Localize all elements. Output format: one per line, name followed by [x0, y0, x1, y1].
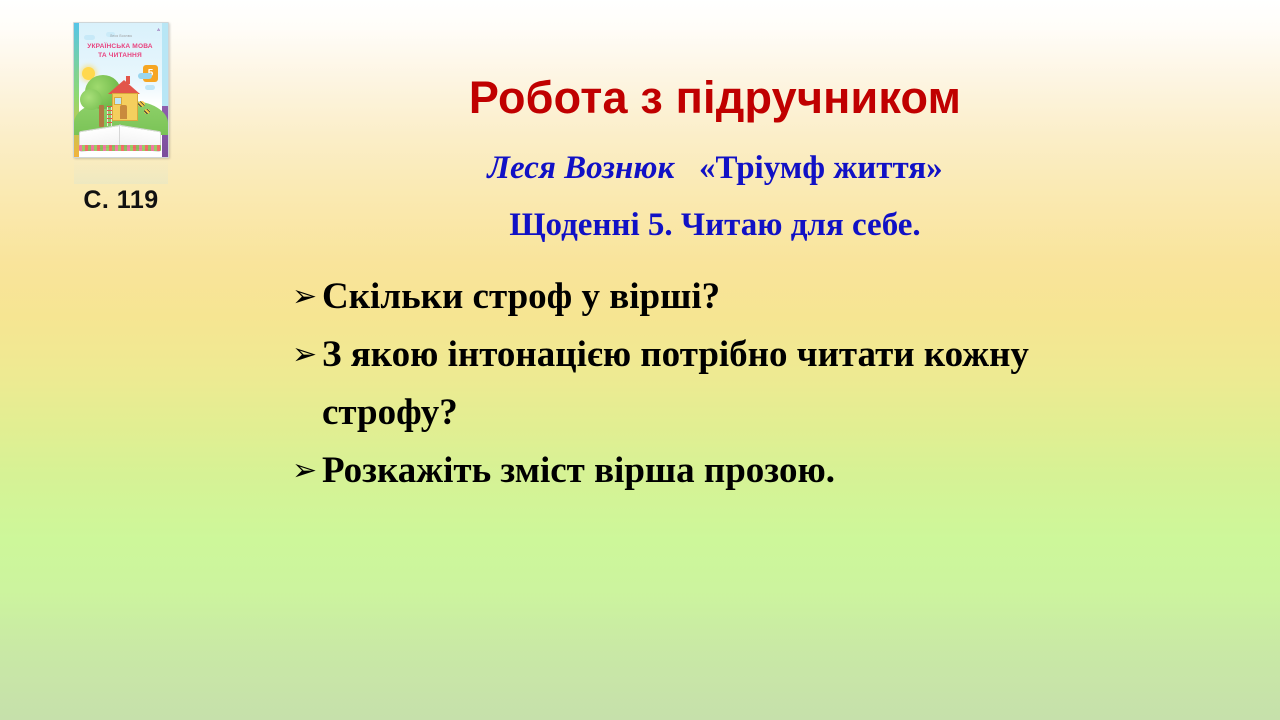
textbook-block: A Леся Вознюк УКРАЇНСЬКА МОВА ТА ЧИТАННЯ… [46, 22, 196, 215]
tree-trunk-shape [99, 105, 104, 127]
question-text: З якою інтонацією потрібно читати кожну … [322, 334, 1029, 433]
arrow-bullet-icon: ➢ [292, 268, 320, 326]
house-roof-shape [108, 80, 140, 94]
cover-publisher-mark: A [157, 27, 160, 32]
subtitle-space [682, 150, 690, 186]
question-text: Скільки строф у вірші? [322, 276, 720, 317]
list-item: ➢ Скільки строф у вірші? [292, 268, 1152, 326]
cover-author-line: Леся Вознюк [74, 34, 168, 38]
flowers-shape [79, 145, 161, 151]
question-text: Розкажіть зміст вірша прозою. [322, 450, 835, 491]
bee-icon [138, 101, 145, 107]
subtitle-work-title: «Тріумф життя» [699, 150, 943, 186]
arrow-bullet-icon: ➢ [292, 326, 320, 384]
cover-reflection [74, 158, 168, 184]
cloud-icon [138, 73, 152, 79]
question-list: ➢ Скільки строф у вірші? ➢ З якою інтона… [292, 268, 1152, 500]
slide-canvas: A Леся Вознюк УКРАЇНСЬКА МОВА ТА ЧИТАННЯ… [0, 0, 1280, 720]
subtitle-author-work: Леся Вознюк «Тріумф життя» [210, 150, 1220, 187]
ladder-shape [107, 106, 112, 126]
house-door-shape [120, 105, 127, 119]
page-reference-label: С. 119 [46, 186, 196, 215]
house-window-shape [114, 97, 122, 105]
bee-icon [144, 109, 150, 114]
cloud-icon [145, 85, 155, 90]
subtitle-activity: Щоденні 5. Читаю для себе. [210, 207, 1220, 244]
arrow-bullet-icon: ➢ [292, 442, 320, 500]
list-item: ➢ З якою інтонацією потрібно читати кожн… [292, 326, 1152, 442]
page-title: Робота з підручником [210, 72, 1220, 124]
textbook-cover-image: A Леся Вознюк УКРАЇНСЬКА МОВА ТА ЧИТАННЯ… [73, 22, 169, 158]
subtitle-author: Леся Вознюк [487, 150, 674, 186]
list-item: ➢ Розкажіть зміст вірша прозою. [292, 442, 1152, 500]
cover-title: УКРАЇНСЬКА МОВА ТА ЧИТАННЯ [82, 42, 158, 60]
book-publisher-edge [162, 23, 168, 157]
